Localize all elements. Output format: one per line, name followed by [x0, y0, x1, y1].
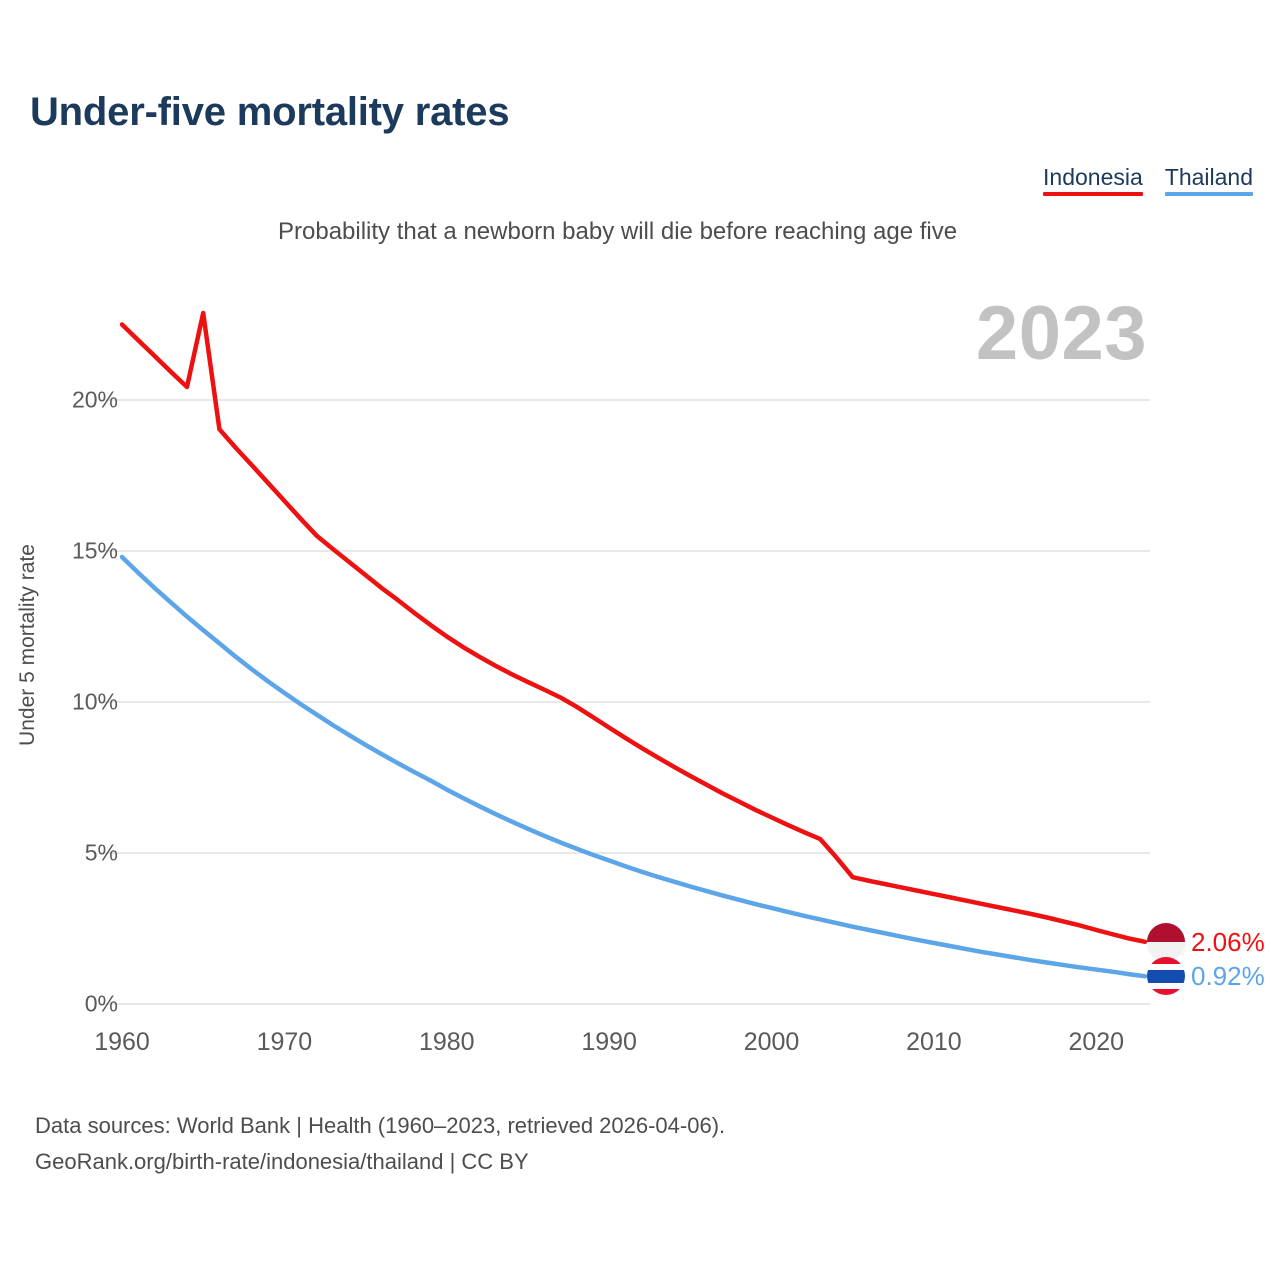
- x-tick-label-1990: 1990: [581, 1028, 637, 1057]
- y-axis-title: Under 5 mortality rate: [16, 544, 40, 746]
- x-tick-label-2000: 2000: [744, 1028, 800, 1057]
- x-tick-label-1960: 1960: [94, 1028, 150, 1057]
- x-tick-label-2010: 2010: [906, 1028, 962, 1057]
- y-tick-label-0: 0%: [85, 991, 118, 1018]
- footer-line-sources: Data sources: World Bank | Health (1960–…: [35, 1108, 725, 1144]
- endpoint-thailand: 0.92%: [1147, 957, 1265, 995]
- endpoint-value-indonesia: 2.06%: [1191, 929, 1265, 955]
- thailand-flag-icon: [1147, 957, 1185, 995]
- chart-canvas: [0, 0, 1280, 1280]
- y-tick-label-10: 10%: [72, 689, 118, 716]
- plot-area: 0%5%10%15%20% 19601970198019902000201020…: [0, 0, 1280, 1280]
- endpoint-value-thailand: 0.92%: [1191, 963, 1265, 989]
- series-line-thailand[interactable]: [122, 557, 1145, 976]
- footer-attribution: Data sources: World Bank | Health (1960–…: [35, 1108, 725, 1180]
- endpoint-indonesia: 2.06%: [1147, 923, 1265, 961]
- y-tick-label-20: 20%: [72, 387, 118, 414]
- y-tick-label-15: 15%: [72, 538, 118, 565]
- chart-page: Under-five mortality rates Indonesia Tha…: [0, 0, 1280, 1280]
- footer-line-url: GeoRank.org/birth-rate/indonesia/thailan…: [35, 1144, 725, 1180]
- series-line-indonesia[interactable]: [122, 313, 1145, 942]
- x-tick-label-1970: 1970: [257, 1028, 313, 1057]
- y-tick-label-5: 5%: [85, 840, 118, 867]
- x-tick-label-1980: 1980: [419, 1028, 475, 1057]
- indonesia-flag-icon: [1147, 923, 1185, 961]
- x-tick-label-2020: 2020: [1068, 1028, 1124, 1057]
